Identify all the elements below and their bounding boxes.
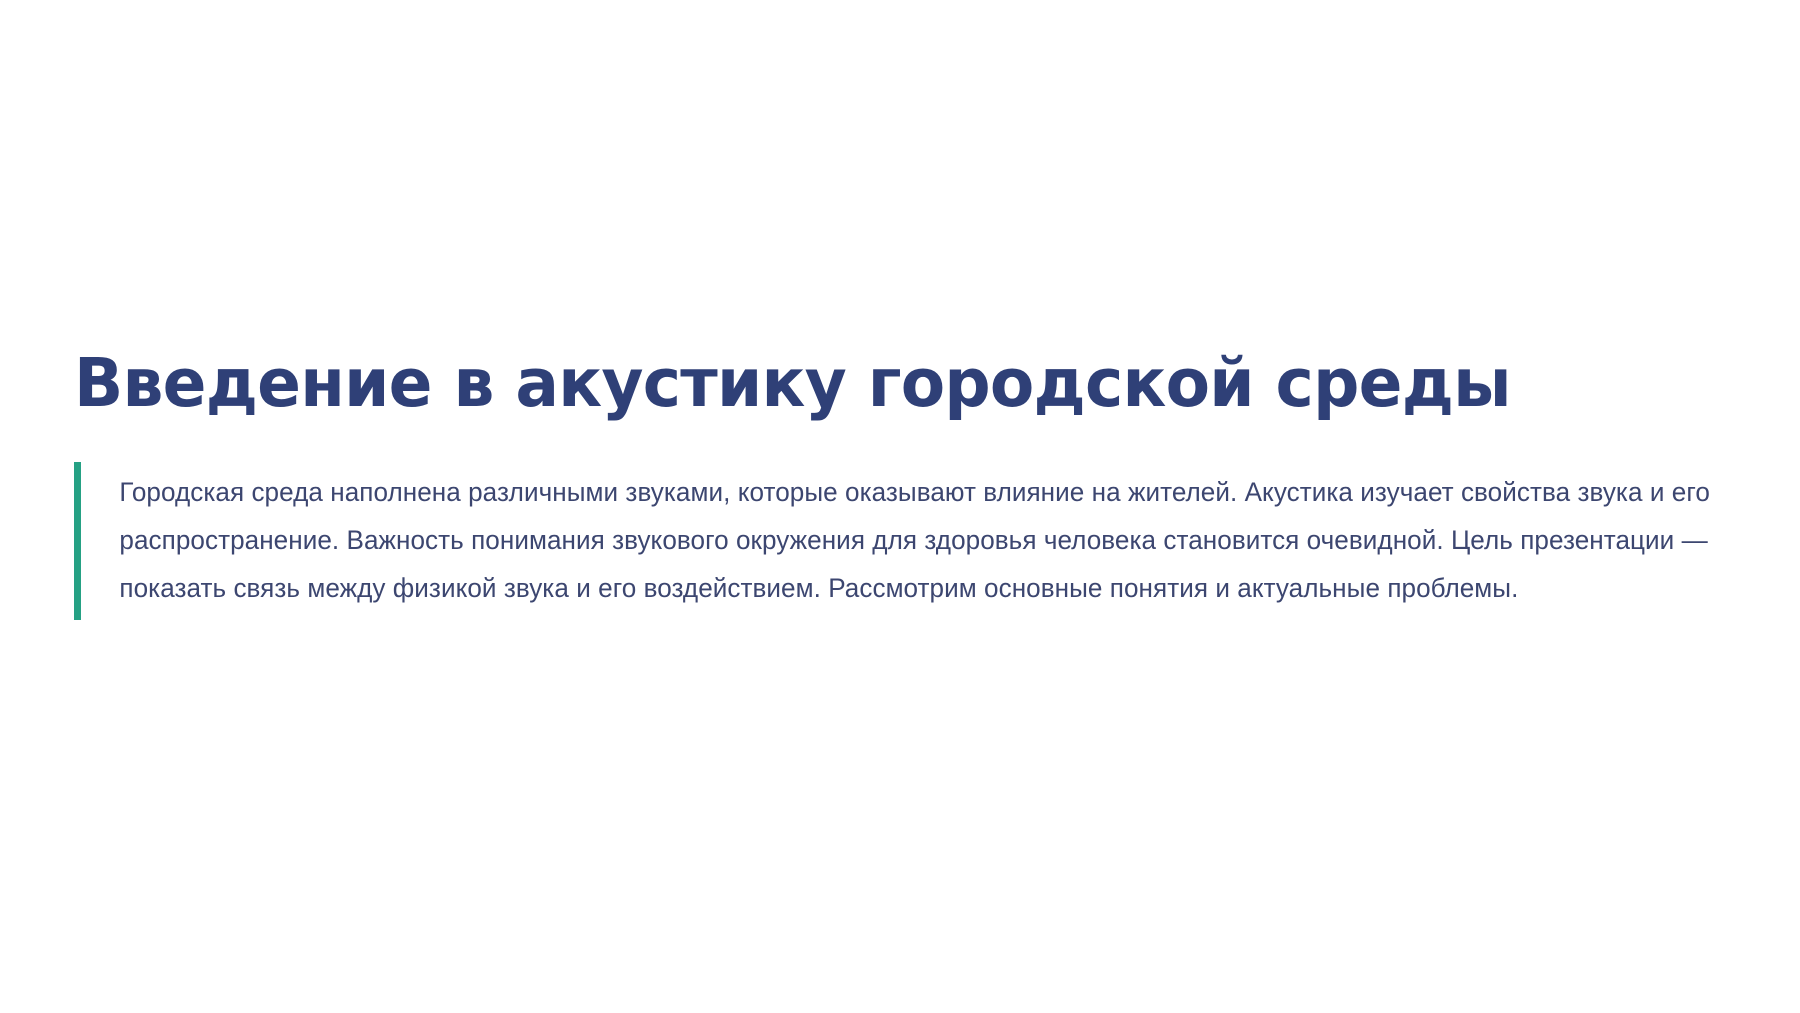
- page-title: Введение в акустику городской среды: [74, 345, 1695, 421]
- body-callout: Городская среда наполнена различными зву…: [74, 462, 1764, 620]
- body-paragraph: Городская среда наполнена различными зву…: [81, 462, 1739, 620]
- presentation-slide: Введение в акустику городской среды Горо…: [0, 0, 1800, 1013]
- accent-bar: [74, 462, 81, 620]
